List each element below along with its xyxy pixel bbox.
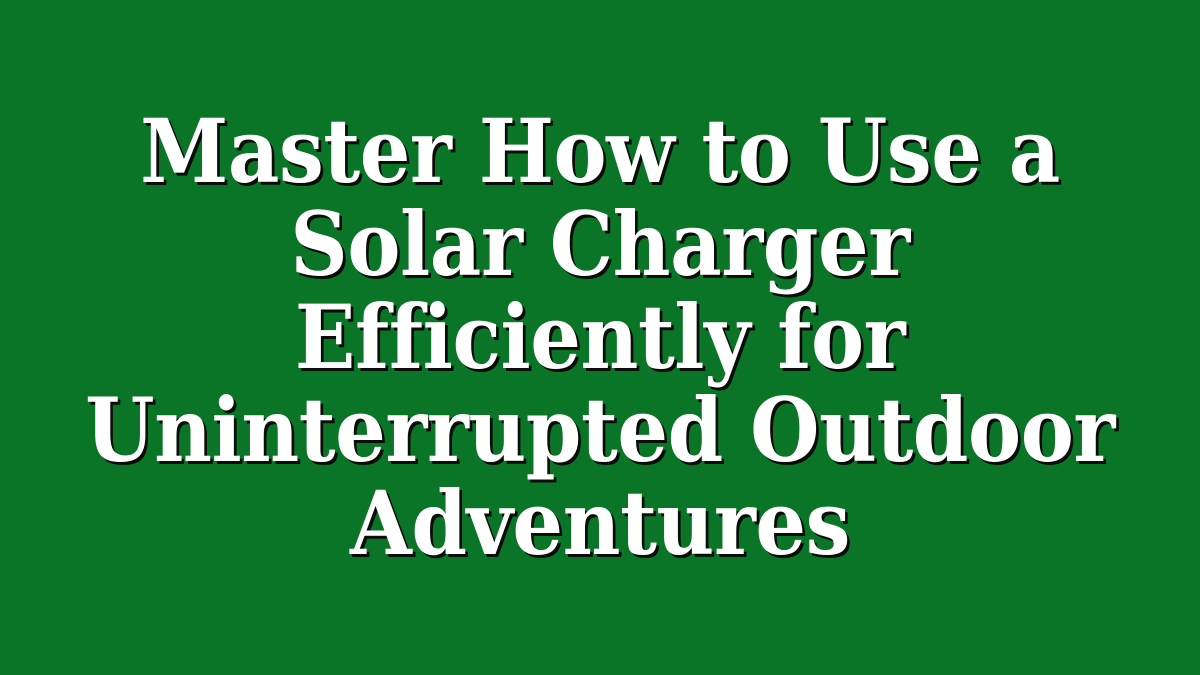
page-title: Master How to Use a Solar Charger Effici…: [75, 105, 1125, 570]
headline-line-4: Uninterrupted Outdoor: [75, 384, 1125, 477]
headline-line-3: Efficiently for: [75, 291, 1125, 384]
headline-line-5: Adventures: [75, 477, 1125, 570]
headline-line-2: Solar Charger: [75, 198, 1125, 291]
headline-line-1: Master How to Use a: [75, 105, 1125, 198]
poster-canvas: Master How to Use a Solar Charger Effici…: [0, 0, 1200, 675]
